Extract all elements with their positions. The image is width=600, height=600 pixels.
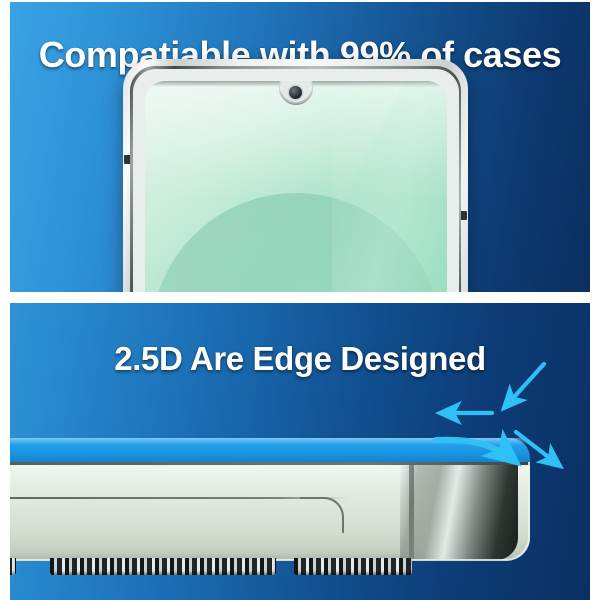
phone-front-screen bbox=[145, 81, 447, 293]
speaker-grille-segment bbox=[10, 558, 16, 575]
product-image-panel: Compatiable with 99% of cases bbox=[0, 0, 600, 600]
panel-edge-design: 2.5D Are Edge Designed bbox=[10, 303, 590, 600]
speaker-grille-segment bbox=[294, 558, 412, 575]
antenna-band-right bbox=[460, 211, 467, 220]
speaker-grille-icon bbox=[10, 558, 414, 577]
phone-front-frame bbox=[123, 59, 468, 292]
arrow-sweep-icon bbox=[436, 440, 516, 462]
phone-front-view bbox=[123, 59, 468, 292]
phone-front-bezel-inner bbox=[133, 69, 459, 293]
edge-body-groove bbox=[10, 497, 348, 499]
arrows-svg bbox=[420, 358, 590, 493]
panel-compatibility: Compatiable with 99% of cases bbox=[10, 2, 590, 292]
speaker-grille-segment bbox=[50, 558, 276, 575]
camera-icon bbox=[289, 86, 302, 99]
edge-deflection-arrows bbox=[420, 358, 590, 493]
phone-front-bezel bbox=[130, 66, 461, 292]
arrow-deflect-icon bbox=[516, 432, 560, 466]
edge-body-groove-curve bbox=[300, 497, 344, 533]
arrow-impact-icon bbox=[504, 364, 544, 408]
